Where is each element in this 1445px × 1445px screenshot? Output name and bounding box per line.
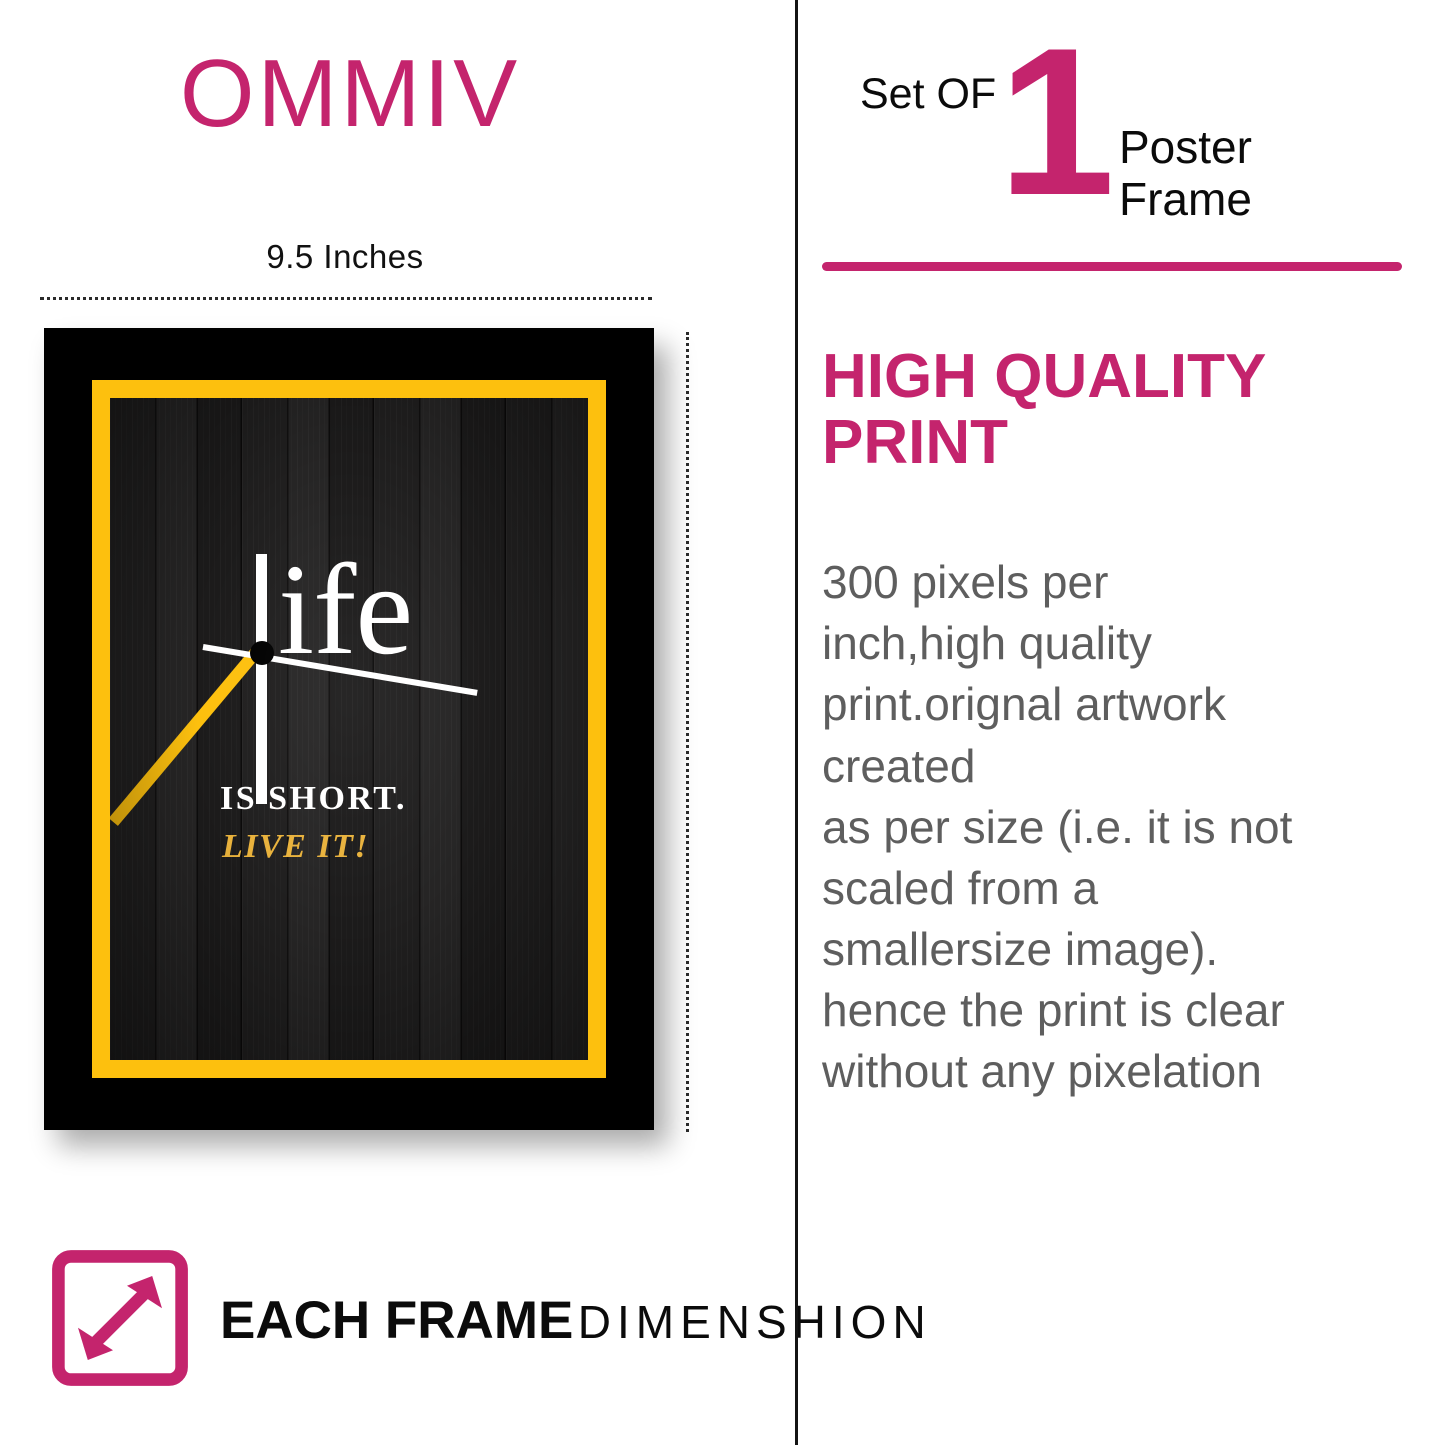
width-dimension-line	[40, 297, 652, 300]
clock-hand-hour	[256, 554, 267, 804]
body-line: created	[822, 740, 975, 792]
height-dimension-line	[686, 332, 689, 1132]
set-of-quantity: 1	[998, 36, 1115, 208]
resize-diagonal-arrow-icon	[50, 1248, 190, 1393]
clock-center-dot	[250, 641, 274, 665]
section-divider-rule	[822, 262, 1402, 271]
poster-line-is-short: IS SHORT.	[220, 780, 407, 818]
frame-mat-border: ife IS SHORT. LIVE IT!	[92, 380, 606, 1078]
brand-logo: OMMIV	[0, 46, 700, 142]
high-quality-print-body: 300 pixels per inch,high quality print.o…	[822, 552, 1422, 1103]
each-frame-dimension-badge: EACH FRAME DIMENSHION	[50, 1248, 932, 1393]
body-line: without any pixelation	[822, 1045, 1262, 1097]
high-quality-print-heading: HIGH QUALITY PRINT	[822, 344, 1382, 475]
body-line: smallersize image).	[822, 923, 1218, 975]
body-line: print.orignal artwork	[822, 678, 1226, 730]
badge-title: EACH FRAME	[220, 1291, 573, 1350]
panel-divider	[795, 0, 798, 1445]
set-of-callout: Set OF 1 Poster Frame	[860, 42, 1252, 225]
poster-artwork: ife IS SHORT. LIVE IT!	[110, 398, 588, 1060]
frame-width-label: 9.5 Inches	[0, 238, 690, 276]
body-line: 300 pixels per	[822, 556, 1108, 608]
set-of-label: Set OF	[860, 70, 996, 119]
poster-frame: ife IS SHORT. LIVE IT!	[44, 328, 654, 1130]
badge-text-block: EACH FRAME DIMENSHION	[220, 1293, 932, 1349]
badge-subtitle: DIMENSHION	[578, 1296, 932, 1348]
product-infographic: OMMIV 9.5 Inches 13 Inches ife IS SHORT.…	[0, 0, 1445, 1445]
set-of-unit-line1: Poster	[1119, 121, 1252, 173]
poster-word-life: ife	[278, 545, 412, 675]
poster-line-live-it: LIVE IT!	[222, 828, 369, 866]
body-line: scaled from a	[822, 862, 1098, 914]
set-of-unit-line2: Frame	[1119, 173, 1252, 225]
set-of-unit: Poster Frame	[1119, 122, 1252, 225]
body-line: hence the print is clear	[822, 984, 1285, 1036]
poster-vignette	[110, 398, 588, 1060]
body-line: as per size (i.e. it is not	[822, 801, 1292, 853]
body-line: inch,high quality	[822, 617, 1152, 669]
